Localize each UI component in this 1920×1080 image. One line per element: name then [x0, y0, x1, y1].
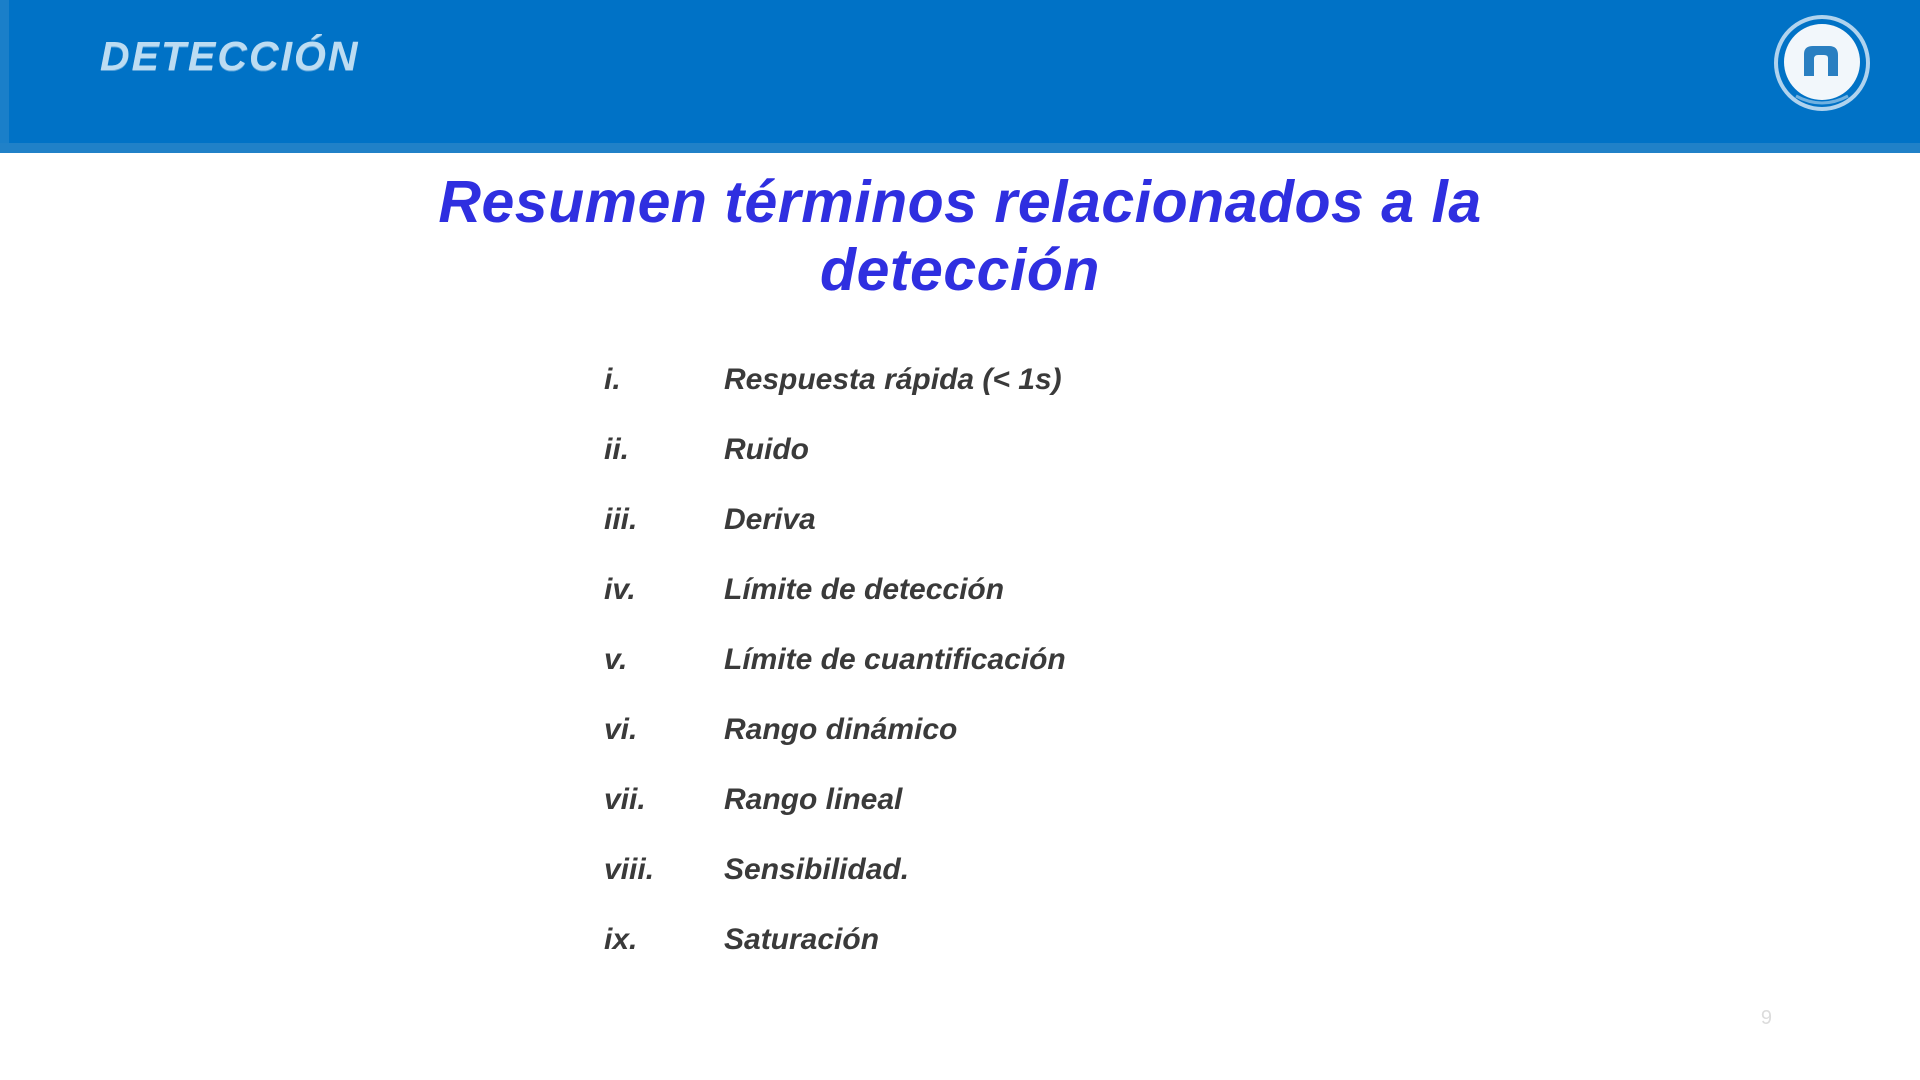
list-item-label: Saturación: [724, 923, 879, 957]
list-item-numeral: v.: [604, 643, 724, 677]
page-title-line-1: Resumen términos relacionados a la: [0, 168, 1920, 236]
list-item-label: Límite de cuantificación: [724, 643, 1066, 677]
list-item: iv. Límite de detección: [604, 573, 1504, 643]
terms-list: i. Respuesta rápida (< 1s) ii. Ruido iii…: [604, 363, 1504, 993]
list-item-label: Respuesta rápida (< 1s): [724, 363, 1062, 397]
list-item: v. Límite de cuantificación: [604, 643, 1504, 713]
list-item-label: Rango lineal: [724, 783, 902, 817]
page-title: Resumen términos relacionados a la detec…: [0, 168, 1920, 305]
list-item-numeral: iv.: [604, 573, 724, 607]
institution-logo-icon: [1766, 10, 1878, 122]
list-item-label: Sensibilidad.: [724, 853, 909, 887]
list-item: vi. Rango dinámico: [604, 713, 1504, 783]
slide-header-banner: DETECCIÓN: [0, 0, 1920, 143]
list-item-numeral: iii.: [604, 503, 724, 537]
list-item-label: Ruido: [724, 433, 809, 467]
page-title-line-2: detección: [0, 236, 1920, 304]
list-item: viii. Sensibilidad.: [604, 853, 1504, 923]
banner-underline: [0, 143, 1920, 153]
page-number: 9: [1761, 1007, 1772, 1030]
slide-root: DETECCIÓN Resumen términos relacionados …: [0, 0, 1920, 1080]
list-item-label: Límite de detección: [724, 573, 1004, 607]
list-item: iii. Deriva: [604, 503, 1504, 573]
list-item: ix. Saturación: [604, 923, 1504, 993]
list-item-numeral: ix.: [604, 923, 724, 957]
list-item-numeral: vi.: [604, 713, 724, 747]
banner-left-accent: [0, 0, 9, 143]
list-item: ii. Ruido: [604, 433, 1504, 503]
list-item: i. Respuesta rápida (< 1s): [604, 363, 1504, 433]
banner-title: DETECCIÓN: [100, 33, 359, 80]
list-item-numeral: ii.: [604, 433, 724, 467]
list-item-label: Rango dinámico: [724, 713, 957, 747]
list-item-label: Deriva: [724, 503, 816, 537]
list-item-numeral: vii.: [604, 783, 724, 817]
list-item-numeral: viii.: [604, 853, 724, 887]
list-item: vii. Rango lineal: [604, 783, 1504, 853]
list-item-numeral: i.: [604, 363, 724, 397]
